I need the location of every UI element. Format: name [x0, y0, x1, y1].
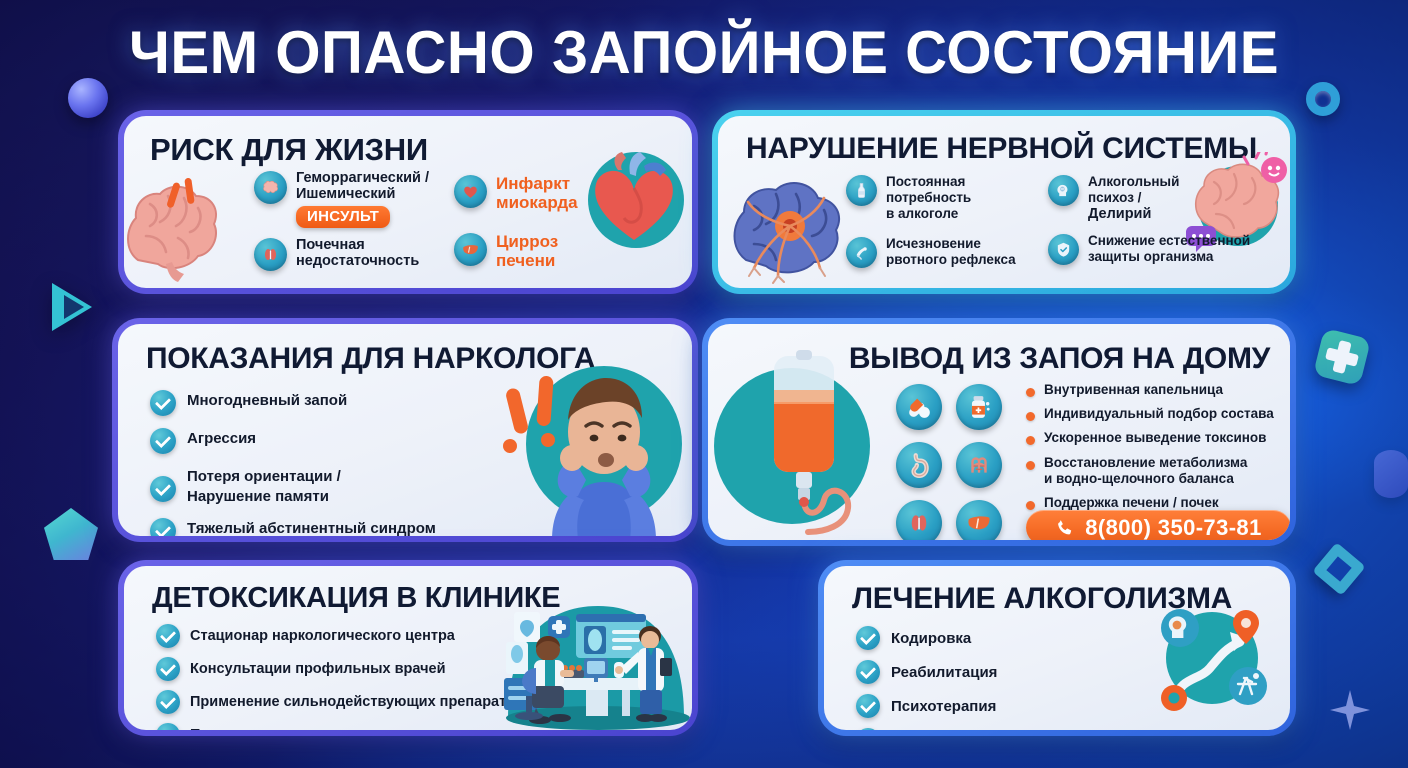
icon-row — [896, 384, 1016, 430]
card-nervous-title: НАРУШЕНИЕ НЕРВНОЙ СИСТЕМЫ — [746, 132, 1257, 166]
liver-icon — [454, 233, 487, 266]
list-item-label: Реабилитация — [891, 664, 997, 681]
list-item-label: Стационар наркологического центра — [190, 628, 455, 644]
bullet-dot-icon — [1026, 412, 1035, 421]
card-home-detox: ВЫВОД ИЗ ЗАПОЯ НА ДОМУ — [702, 318, 1296, 546]
card-risk-items-right: Инфаркт миокарда Цирроз печени — [454, 174, 604, 279]
check-icon — [150, 428, 176, 454]
heart-icon — [454, 175, 487, 208]
list-item-label: Тяжелый абстинентный синдром — [187, 518, 436, 536]
list-item: Внутривенная капельница — [1026, 382, 1290, 398]
check-icon — [156, 657, 180, 681]
list-item-line: недостаточность — [296, 253, 419, 269]
list-item-line: печени — [496, 251, 558, 270]
capsule-shape-icon — [1374, 450, 1408, 498]
list-item-line: Снижение естественной — [1088, 233, 1250, 249]
check-icon — [150, 476, 176, 502]
stressed-man-3d-illustration — [486, 354, 686, 536]
card-risk: РИСК ДЛЯ ЖИЗНИ — [118, 110, 698, 294]
list-item: Исчезновение рвотного рефлекса — [846, 236, 1016, 268]
list-item: Ускоренное выведение токсинов — [1026, 430, 1290, 446]
list-item: Восстановление метаболизма и водно-щелоч… — [1026, 455, 1290, 487]
card-treatment: ЛЕЧЕНИЕ АЛКОГОЛИЗМА Кодировка Реабилитац… — [818, 560, 1296, 736]
card-nervous-items-right: Алкогольный психоз / Делирий Снижение ес… — [1048, 174, 1263, 275]
list-item-line: в алкоголе — [886, 206, 971, 222]
list-item: Потеря ориентации / Нарушение памяти — [150, 466, 510, 506]
list-item: Поддержка печени / почек — [1026, 495, 1290, 511]
phone-icon — [1055, 517, 1076, 538]
list-item-label: Индивидуальный подбор состава — [1044, 406, 1274, 422]
iv-drip-3d-illustration — [712, 350, 902, 540]
list-item: Реабилитация — [856, 660, 1106, 684]
bullet-dot-icon — [1026, 388, 1035, 397]
list-item: Многодневный запой — [150, 390, 510, 416]
list-item-line: Нарушение памяти — [187, 486, 341, 506]
card-clinic-detox: ДЕТОКСИКАЦИЯ В КЛИНИКЕ Стационар нарколо… — [118, 560, 698, 736]
status-badge-stroke: ИНСУЛЬТ — [296, 206, 390, 228]
intestine-icon — [956, 442, 1002, 488]
list-item-label: Многодневный запой — [187, 390, 347, 410]
list-item: Алкогольный психоз / Делирий — [1048, 174, 1263, 223]
card-risk-items-left: Геморрагический / Ишемический ИНСУЛЬТ По… — [254, 170, 444, 280]
list-item: Инфаркт миокарда — [454, 174, 604, 212]
list-item-accent: Делирий — [1088, 206, 1179, 223]
ring-shape-icon — [1306, 82, 1340, 116]
list-item-line: Почечная — [296, 237, 419, 253]
list-item: Тяжелый абстинентный синдром — [150, 518, 510, 536]
check-icon — [156, 624, 180, 648]
bullet-dot-icon — [1026, 461, 1035, 470]
card-treatment-list: Кодировка Реабилитация Психотерапия Физи… — [856, 626, 1106, 730]
check-icon — [856, 660, 880, 684]
list-item-label: Применение сильнодействующих препаратов — [190, 694, 524, 710]
triangle-shape-icon — [52, 283, 92, 331]
stomach-icon — [896, 442, 942, 488]
recovery-path-3d-illustration — [1140, 594, 1280, 720]
check-icon — [150, 518, 176, 536]
list-item-line: Исчезновение — [886, 236, 1016, 252]
list-item-line: Цирроз — [496, 232, 558, 251]
list-item: Снижение естественной защиты организма — [1048, 233, 1263, 265]
list-item: Индивидуальный подбор состава — [1026, 406, 1290, 422]
check-icon — [856, 626, 880, 650]
list-item: Геморрагический / Ишемический ИНСУЛЬТ — [254, 170, 444, 228]
list-item: Физиопроцедуры — [856, 728, 1106, 730]
shield-check-icon — [1048, 234, 1079, 265]
phone-button[interactable]: 8(800) 350-73-81 — [1026, 510, 1290, 540]
check-icon — [156, 723, 180, 730]
brain-3d-illustration — [124, 164, 248, 284]
list-item-label: Психотерапия — [891, 698, 996, 715]
card-home-detox-list: Внутривенная капельница Индивидуальный п… — [1026, 382, 1290, 519]
list-item-line: защиты организма — [1088, 249, 1250, 265]
kidneys-icon — [896, 500, 942, 540]
list-item-label: Кодировка — [891, 630, 971, 647]
list-item-label: Консультации профильных врачей — [190, 661, 446, 677]
check-icon — [150, 390, 176, 416]
list-item-label: Поддержка печени / почек — [1044, 495, 1219, 511]
pills-icon — [896, 384, 942, 430]
list-item-line: Инфаркт — [496, 174, 578, 193]
list-item-label: Психологическая помощь — [190, 727, 377, 730]
card-indications-list: Многодневный запой Агрессия Потеря ориен… — [150, 390, 510, 536]
list-item-line: Ишемический — [296, 186, 429, 202]
bullet-dot-icon — [1026, 501, 1035, 510]
list-item-line: потребность — [886, 190, 971, 206]
list-item: Почечная недостаточность — [254, 237, 444, 271]
neuron-brain-3d-illustration — [720, 164, 860, 288]
card-nervous-items-left: Постоянная потребность в алкоголе Исчезн… — [846, 174, 1016, 278]
list-item: Психотерапия — [856, 694, 1106, 718]
list-item-label: Ускоренное выведение токсинов — [1044, 430, 1266, 446]
list-item: Постоянная потребность в алкоголе — [846, 174, 1016, 222]
medicine-bottle-icon — [956, 384, 1002, 430]
kidneys-icon — [254, 238, 287, 271]
list-item-label: Агрессия — [187, 428, 256, 448]
vomit-reflex-icon — [846, 237, 877, 268]
bottle-icon — [846, 175, 877, 206]
list-item-line: миокарда — [496, 193, 578, 212]
list-item: Кодировка — [856, 626, 1106, 650]
card-indications: ПОКАЗАНИЯ ДЛЯ НАРКОЛОГА Многодневный зап… — [112, 318, 698, 542]
list-item-line: рвотного рефлекса — [886, 252, 1016, 268]
list-item-line: и водно-щелочного баланса — [1044, 471, 1247, 487]
card-home-detox-title: ВЫВОД ИЗ ЗАПОЯ НА ДОМУ — [849, 342, 1270, 376]
list-item-line: Восстановление метаболизма — [1044, 455, 1247, 471]
list-item-line: Алкогольный — [1088, 174, 1179, 190]
list-item: Цирроз печени — [454, 232, 604, 270]
list-item: Агрессия — [150, 428, 510, 454]
page-title: ЧЕМ ОПАСНО ЗАПОЙНОЕ СОСТОЯНИЕ — [21, 18, 1387, 87]
icon-row — [896, 500, 1016, 540]
check-icon — [856, 728, 880, 730]
list-item-line: Потеря ориентации / — [187, 466, 341, 486]
phone-number: 8(800) 350-73-81 — [1085, 515, 1261, 541]
card-nervous-system: НАРУШЕНИЕ НЕРВНОЙ СИСТЕМЫ — [712, 110, 1296, 294]
list-item-line: Геморрагический / — [296, 170, 429, 186]
head-brain-icon — [1048, 175, 1079, 206]
clinic-office-3d-illustration — [488, 578, 692, 730]
icon-row — [896, 442, 1016, 488]
card-home-detox-icon-grid — [896, 384, 1016, 540]
check-icon — [856, 694, 880, 718]
liver-icon — [956, 500, 1002, 540]
list-item-line: Постоянная — [886, 174, 971, 190]
list-item-line: психоз / — [1088, 190, 1179, 206]
bullet-dot-icon — [1026, 436, 1035, 445]
card-risk-title: РИСК ДЛЯ ЖИЗНИ — [150, 132, 428, 168]
list-item-label: Внутривенная капельница — [1044, 382, 1223, 398]
check-icon — [156, 690, 180, 714]
brain-icon — [254, 171, 287, 204]
